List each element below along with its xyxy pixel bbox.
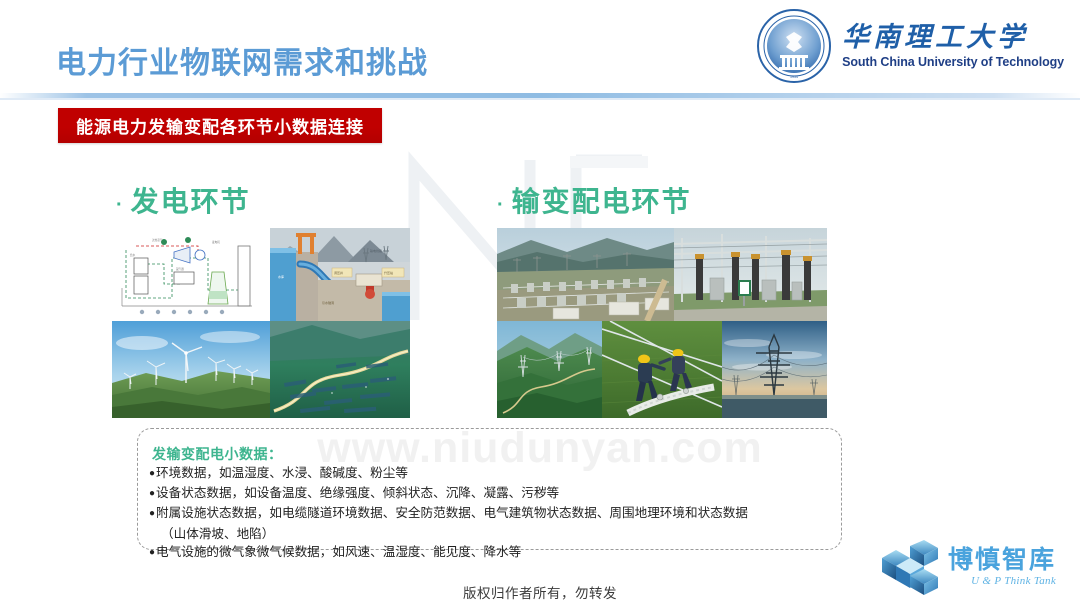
info-box-list: ●环境数据，如温湿度、水浸、酸碱度、粉尘等 ●设备状态数据，如设备温度、绝缘强度… — [149, 464, 839, 563]
think-tank-name-cn: 博慎智库 — [948, 547, 1056, 573]
transmission-photo-collage — [497, 228, 827, 418]
header-divider-secondary — [0, 98, 1080, 100]
university-name-cn: 华南理工大学 — [842, 23, 1028, 53]
slide-canvas: 电力行业物联网需求和挑战 — [0, 0, 1080, 608]
linemen-on-conductor-photo — [602, 321, 722, 418]
svg-text:发电机: 发电机 — [212, 240, 220, 244]
cube-blocks-icon — [880, 538, 942, 596]
list-item-text: 环境数据，如温湿度、水浸、酸碱度、粉尘等 — [156, 466, 408, 480]
section-heading-generation: · 发电环节 — [116, 180, 251, 220]
think-tank-logo: 博慎智库 U & P Think Tank — [880, 538, 1056, 596]
list-item: ●电气设施的微气象微气候数据，如风速、温湿度、能见度、降水等 — [149, 543, 839, 563]
svg-text:升压站: 升压站 — [384, 270, 393, 275]
section-banner: 能源电力发输变配各环节小数据连接 — [58, 108, 382, 143]
list-item: ●附属设施状态数据，如电缆隧道环境数据、安全防范数据、电气建筑物状态数据、周围地… — [149, 504, 839, 524]
svg-text:给水: 给水 — [130, 253, 136, 257]
list-item: ●设备状态数据，如设备温度、绝缘强度、倾斜状态、沉降、凝露、污秽等 — [149, 484, 839, 504]
bullet-icon: ● — [149, 488, 155, 499]
generation-photo-collage: 过热蒸汽 发电机 凝汽器 给水 — [112, 228, 410, 418]
wind-farm-photo — [112, 321, 270, 418]
transmission-tower-dusk-photo — [722, 321, 827, 418]
think-tank-name-block: 博慎智库 U & P Think Tank — [948, 547, 1056, 586]
university-logo: 1934 华南理工大学 South China University of Te… — [756, 8, 1064, 84]
bullet-icon: ● — [149, 468, 155, 479]
section-heading-transmission: · 输变配电环节 — [497, 180, 692, 220]
university-seal-icon: 1934 — [756, 8, 832, 84]
thermal-power-plant-schematic: 过热蒸汽 发电机 凝汽器 给水 — [112, 228, 270, 321]
page-title: 电力行业物联网需求和挑战 — [56, 38, 428, 82]
bullet-icon: ● — [149, 547, 155, 558]
section-heading-transmission-label: 输变配电环节 — [512, 180, 692, 220]
bullet-icon: ● — [149, 508, 155, 519]
list-item-text: 附属设施状态数据，如电缆隧道环境数据、安全防范数据、电气建筑物状态数据、周围地理… — [156, 506, 748, 520]
list-item-text: 电气设施的微气象微气候数据，如风速、温湿度、能见度、降水等 — [156, 545, 521, 559]
list-item: ●环境数据，如温湿度、水浸、酸碱度、粉尘等 — [149, 464, 839, 484]
substation-aerial-photo — [497, 228, 674, 321]
bullet-dot-icon: · — [116, 195, 125, 215]
section-heading-generation-label: 发电环节 — [131, 180, 251, 220]
svg-text:过热蒸汽: 过热蒸汽 — [152, 238, 163, 242]
svg-text:水库: 水库 — [278, 274, 284, 279]
info-box-title: 发输变配电小数据： — [152, 444, 283, 464]
svg-text:引水隧洞: 引水隧洞 — [322, 300, 334, 305]
switchyard-closeup-photo — [674, 228, 827, 321]
bullet-dot-icon: · — [497, 195, 506, 215]
svg-text:凝汽器: 凝汽器 — [176, 267, 184, 271]
university-name-en: South China University of Technology — [842, 55, 1064, 69]
list-item-continuation: （山体滑坡、地陷） — [149, 525, 839, 543]
solar-farm-photo — [270, 321, 410, 418]
hydropower-dam-diagram: 调压井 升压站 输电线路 水库 引水隧洞 — [270, 228, 410, 321]
university-name-block: 华南理工大学 South China University of Technol… — [842, 23, 1064, 70]
svg-text:1934: 1934 — [790, 75, 798, 79]
list-item-text: 设备状态数据，如设备温度、绝缘强度、倾斜状态、沉降、凝露、污秽等 — [156, 486, 559, 500]
svg-text:调压井: 调压井 — [334, 270, 343, 275]
svg-text:输电线路: 输电线路 — [370, 248, 382, 253]
mountain-transmission-line-photo — [497, 321, 602, 418]
think-tank-name-en: U & P Think Tank — [971, 575, 1056, 587]
